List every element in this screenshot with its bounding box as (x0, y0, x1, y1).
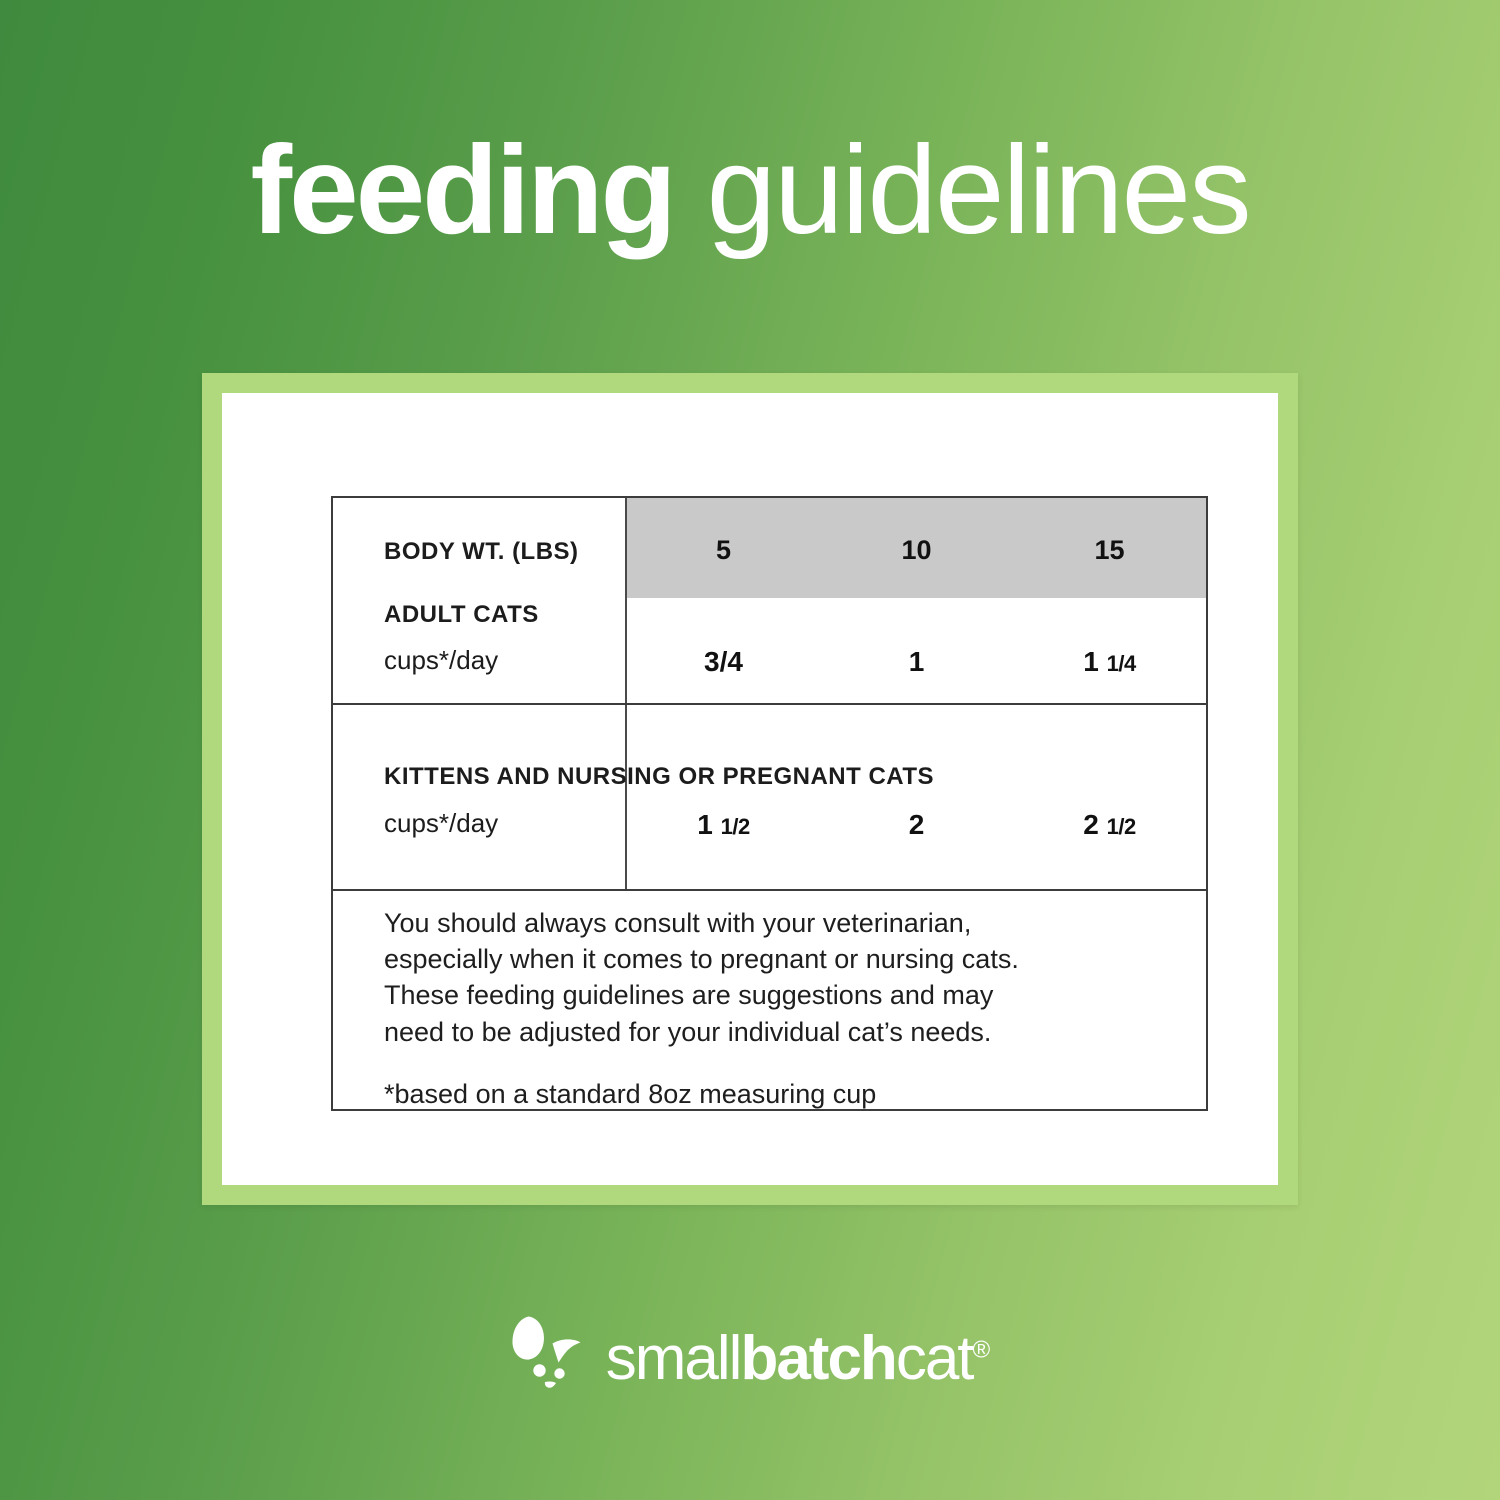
leaf-cat-logo-icon (510, 1312, 592, 1396)
page-title-light: guidelines (674, 121, 1250, 260)
table-header-label: BODY WT. (LBS) (384, 538, 579, 566)
feeding-guidelines-page: feeding guidelines BODY WT. (LBS) 5 10 1… (0, 0, 1500, 1500)
header-value-15: 15 (1013, 535, 1206, 566)
adult-value-col-5: 3/4 (627, 646, 820, 678)
adult-value-col-15: 1 1/4 (1013, 646, 1206, 678)
note-line-1: You should always consult with your vete… (384, 905, 1176, 941)
note-line-3: These feeding guidelines are suggestions… (384, 977, 1176, 1013)
feeding-card-frame: BODY WT. (LBS) 5 10 15 ADULT CATS cups*/… (202, 373, 1298, 1205)
logo-text-small: small (606, 1324, 741, 1393)
header-value-5: 5 (627, 535, 820, 566)
table-rule-1 (333, 703, 1206, 705)
registered-trademark-symbol: ® (973, 1336, 991, 1363)
page-title: feeding guidelines (0, 128, 1500, 253)
row-values-adult-cats: 3/4 1 1 1/4 (627, 646, 1206, 678)
feeding-card: BODY WT. (LBS) 5 10 15 ADULT CATS cups*/… (222, 393, 1278, 1185)
brand-logo-text: smallbatchcat® (606, 1328, 990, 1390)
brand-logo: smallbatchcat® (0, 1312, 1500, 1396)
note-line-4: need to be adjusted for your individual … (384, 1014, 1176, 1050)
table-header-values: 5 10 15 (627, 535, 1206, 566)
row-label-kittens: KITTENS AND NURSING OR PREGNANT CATS (384, 763, 934, 791)
note-footnote: *based on a standard 8oz measuring cup (384, 1076, 1176, 1112)
page-title-bold: feeding (250, 121, 673, 260)
kitten-value-col-10: 2 (820, 809, 1013, 841)
logo-text-batch: batch (740, 1324, 895, 1393)
row-sublabel-adult-cats: cups*/day (384, 645, 498, 676)
kitten-value-col-15: 2 1/2 (1013, 809, 1206, 841)
row-values-kittens: 1 1/2 2 2 1/2 (627, 809, 1206, 841)
feeding-table: BODY WT. (LBS) 5 10 15 ADULT CATS cups*/… (331, 496, 1208, 1111)
note-line-2: especially when it comes to pregnant or … (384, 941, 1176, 977)
disclaimer-note: You should always consult with your vete… (384, 905, 1176, 1112)
kitten-value-col-5: 1 1/2 (627, 809, 820, 841)
header-value-10: 10 (820, 535, 1013, 566)
logo-text-cat: cat (896, 1324, 973, 1393)
row-label-adult-cats: ADULT CATS (384, 601, 539, 629)
adult-value-col-10: 1 (820, 646, 1013, 678)
row-sublabel-kittens: cups*/day (384, 808, 498, 839)
table-rule-2 (333, 889, 1206, 891)
